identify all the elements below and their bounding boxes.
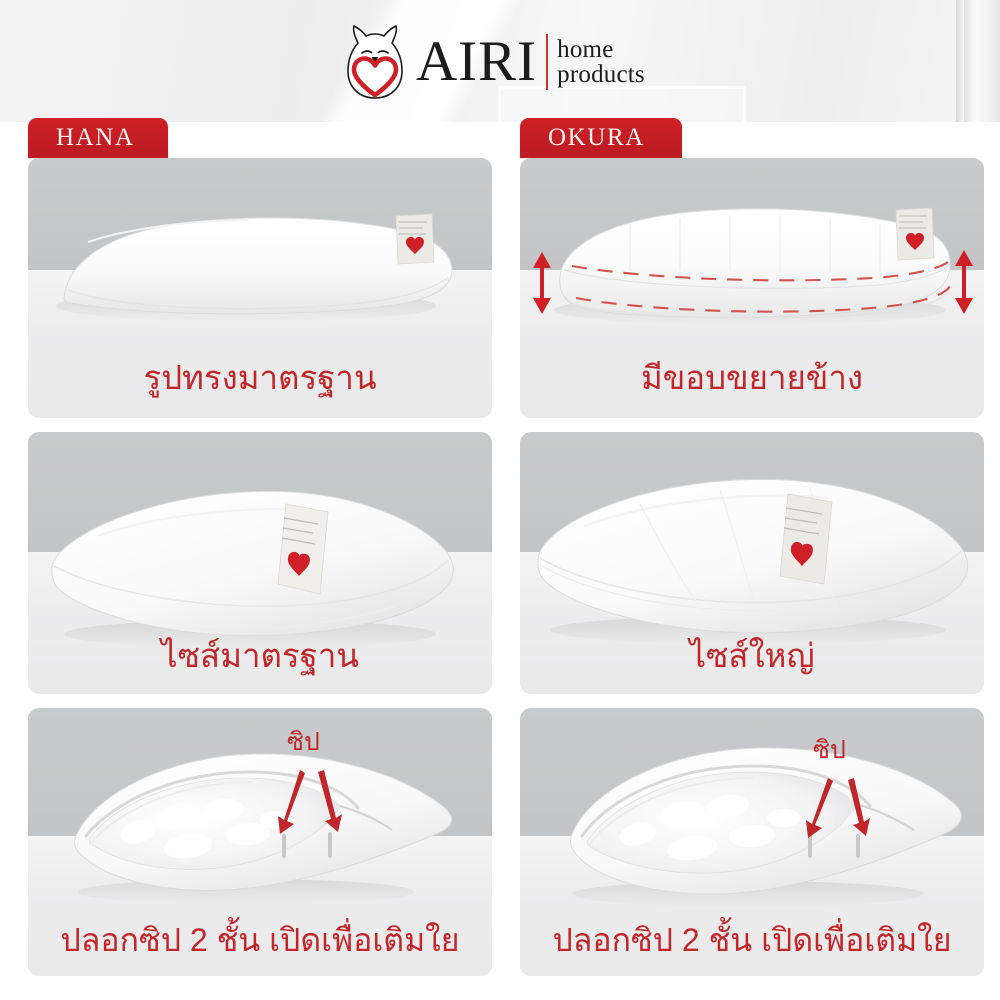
gusset-arrow-right-icon bbox=[955, 250, 973, 314]
background-wall-edge bbox=[956, 0, 964, 122]
panel-okura-zipper: ซิป ปลอกซิป 2 ชั้น เปิดเพื่อเติมใย bbox=[520, 708, 984, 976]
tagline-line-1: home bbox=[557, 37, 645, 62]
zipper-slider-right-icon bbox=[856, 834, 860, 858]
background-door-jamb bbox=[964, 0, 1000, 122]
brand-tagline: home products bbox=[557, 37, 645, 87]
gusset-arrow-left-icon bbox=[533, 252, 551, 314]
tagline-line-2: products bbox=[557, 62, 645, 87]
panel-okura-shape: มีขอบขยายข้าง bbox=[520, 158, 984, 418]
zipper-slider-left-icon bbox=[808, 834, 812, 858]
caption-hana-shape: รูปทรงมาตรฐาน bbox=[28, 351, 492, 404]
brand-wordmark: AIRI home products bbox=[416, 34, 645, 90]
caption-okura-size: ไซส์ใหญ่ bbox=[520, 629, 984, 682]
panel-hana-shape: รูปทรงมาตรฐาน bbox=[28, 158, 492, 418]
brand-name: AIRI bbox=[416, 36, 537, 88]
column-tab-hana-label: HANA bbox=[56, 124, 135, 152]
owl-heart-logo-icon bbox=[344, 23, 406, 101]
product-tag-icon bbox=[896, 208, 934, 260]
zipper-callout-label-hana: ซิป bbox=[287, 722, 320, 762]
zipper-callout-label-okura: ซิป bbox=[813, 730, 846, 770]
caption-hana-zipper: ปลอกซิป 2 ชั้น เปิดเพื่อเติมใย bbox=[28, 915, 492, 966]
product-tag-icon bbox=[780, 494, 832, 584]
zipper-slider-right-icon bbox=[328, 832, 332, 858]
panel-okura-size: ไซส์ใหญ่ bbox=[520, 432, 984, 694]
caption-hana-size: ไซส์มาตรฐาน bbox=[28, 629, 492, 682]
brand-logo: AIRI home products bbox=[344, 22, 645, 102]
zipper-slider-left-icon bbox=[282, 834, 286, 858]
column-tab-okura-label: OKURA bbox=[548, 124, 645, 152]
infographic-canvas: AIRI home products HANA OKURA bbox=[0, 0, 1000, 1000]
caption-okura-shape: มีขอบขยายข้าง bbox=[520, 351, 984, 404]
panel-hana-zipper: ซิป ปลอกซิป 2 ชั้น เปิดเพื่อเติมใย bbox=[28, 708, 492, 976]
wordmark-divider bbox=[546, 34, 548, 90]
product-tag-icon bbox=[278, 504, 328, 594]
header-banner: AIRI home products bbox=[0, 0, 1000, 122]
column-tab-hana: HANA bbox=[28, 118, 168, 158]
caption-okura-zipper: ปลอกซิป 2 ชั้น เปิดเพื่อเติมใย bbox=[520, 915, 984, 966]
product-tag-icon bbox=[396, 214, 434, 264]
column-tab-okura: OKURA bbox=[520, 118, 682, 158]
panel-hana-size: ไซส์มาตรฐาน bbox=[28, 432, 492, 694]
